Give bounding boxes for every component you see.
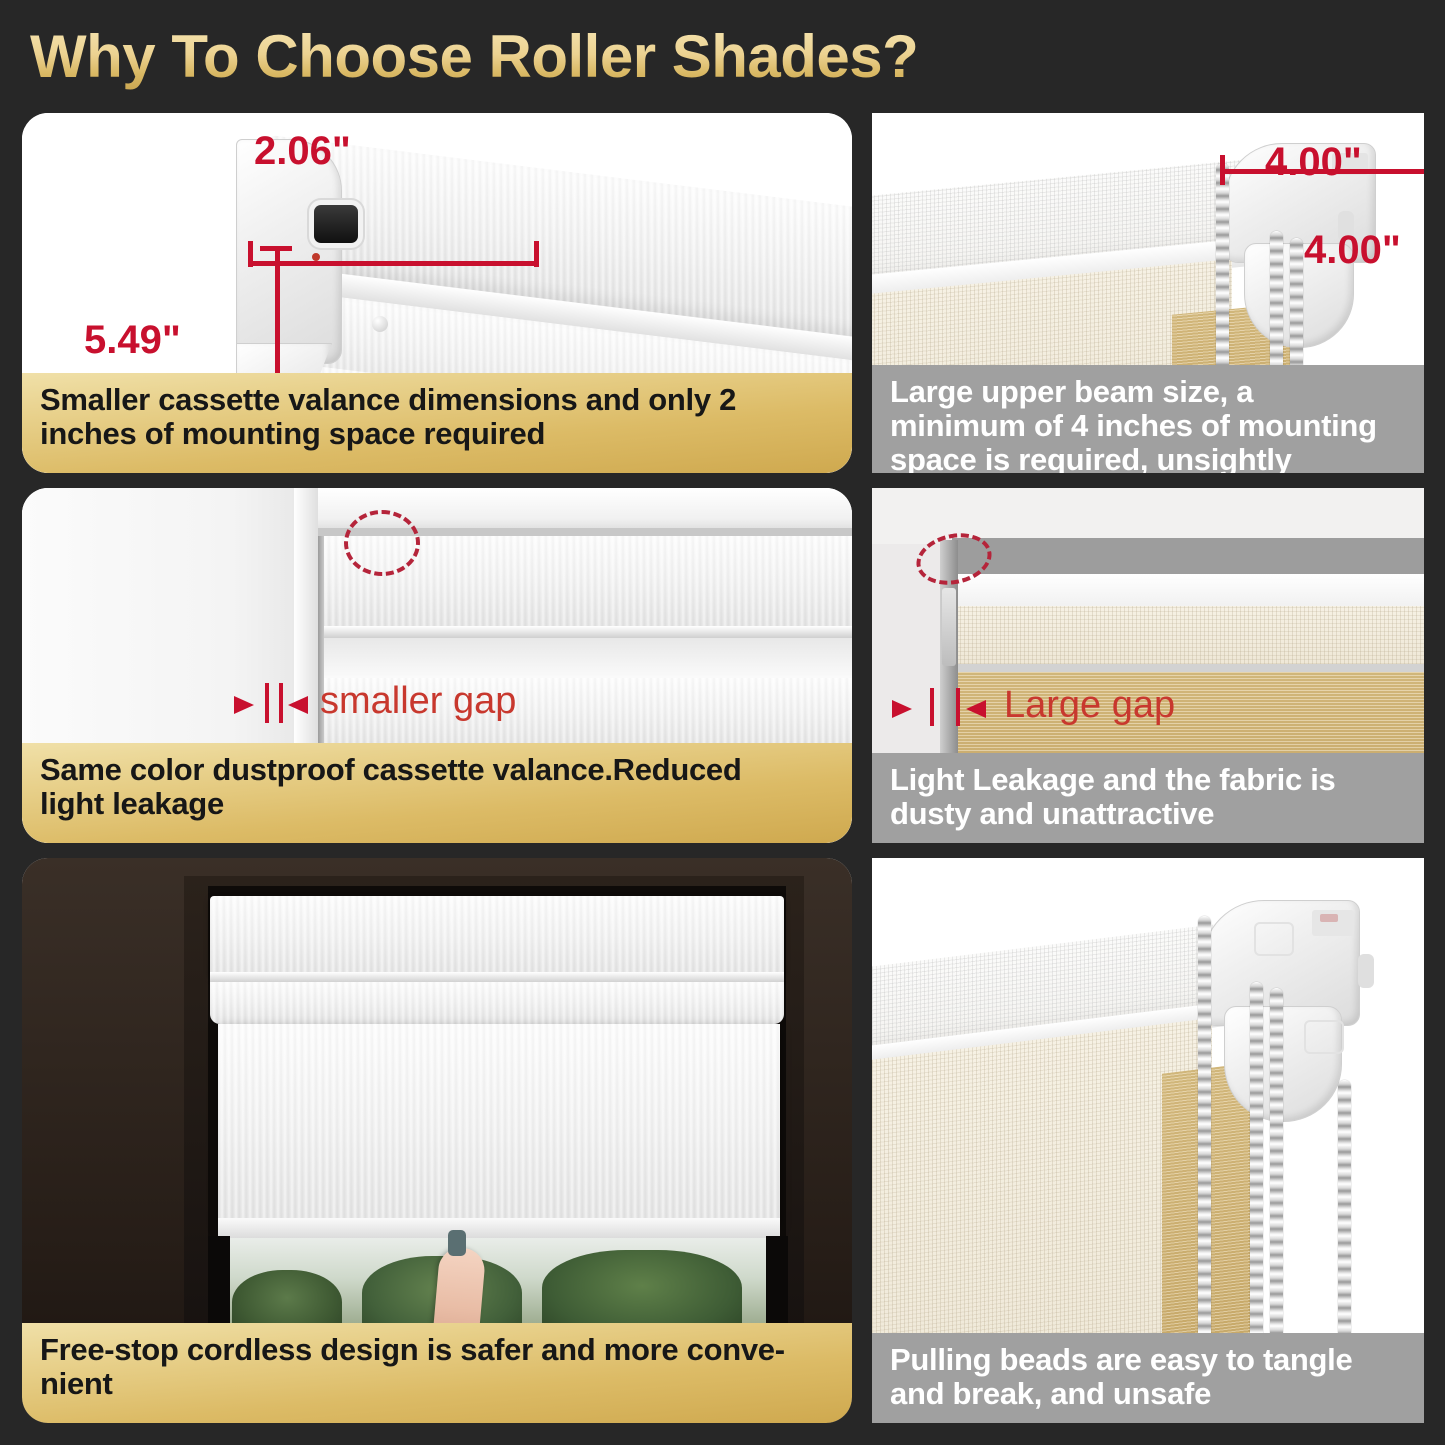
page-title: Why To Choose Roller Shades? <box>30 22 1030 94</box>
caption-top-left: Smaller cassette valance dimensions and … <box>22 373 852 473</box>
caption-line: Pulling beads are easy to tangle <box>890 1343 1408 1377</box>
gap-marker-line <box>930 688 934 726</box>
caption-top-right: Large upper beam size, a minimum of 4 in… <box>872 365 1424 473</box>
gap-marker-line <box>956 688 960 726</box>
gap-highlight-circle <box>344 510 420 576</box>
panel-middle-left: smaller gap Same color dustproof cassett… <box>22 488 852 843</box>
caption-line: Same color dustproof cassette valance.Re… <box>40 753 836 787</box>
width-dim-line <box>248 261 538 266</box>
caption-line: Smaller cassette valance dimensions and … <box>40 383 836 417</box>
panel-bottom-right: Pulling beads are easy to tangle and bre… <box>872 858 1424 1423</box>
caption-line: inches of mounting space required <box>40 417 836 451</box>
caption-middle-right: Light Leakage and the fabric is dusty an… <box>872 753 1424 843</box>
caption-line: space is required, unsightly <box>890 443 1408 473</box>
caption-line: Free-stop cordless design is safer and m… <box>40 1333 836 1367</box>
gap-arrow-right <box>966 700 986 718</box>
beam-height-label: 4.00" <box>1304 228 1401 273</box>
gap-arrow-right <box>288 696 308 714</box>
caption-middle-left: Same color dustproof cassette valance.Re… <box>22 743 852 843</box>
panel-top-right: 4.00" 4.00" Large upper beam size, a min… <box>872 113 1424 473</box>
gap-marker-line <box>265 683 269 723</box>
gap-marker-line <box>279 683 283 723</box>
caption-line: and break, and unsafe <box>890 1377 1408 1411</box>
gap-label: Large gap <box>1004 684 1175 727</box>
caption-bottom-left: Free-stop cordless design is safer and m… <box>22 1323 852 1423</box>
infographic-root: Why To Choose Roller Shades? Why To Choo… <box>0 0 1445 1445</box>
caption-line: Light Leakage and the fabric is <box>890 763 1408 797</box>
gap-arrow-left <box>892 700 912 718</box>
caption-line: nient <box>40 1367 836 1401</box>
caption-line: minimum of 4 inches of mounting <box>890 409 1408 443</box>
panel-bottom-left: Free-stop cordless design is safer and m… <box>22 858 852 1423</box>
caption-line: dusty and unattractive <box>890 797 1408 831</box>
height-dimension-label: 5.49" <box>84 318 181 363</box>
caption-line: light leakage <box>40 787 836 821</box>
panel-middle-right: Large gap Light Leakage and the fabric i… <box>872 488 1424 843</box>
width-dimension-label: 2.06" <box>254 129 351 174</box>
gap-arrow-left <box>234 696 254 714</box>
panel-top-left: 2.06" 5.49" Smaller cassette valance dim… <box>22 113 852 473</box>
caption-bottom-right: Pulling beads are easy to tangle and bre… <box>872 1333 1424 1423</box>
beam-width-label: 4.00" <box>1265 140 1362 185</box>
gap-label: smaller gap <box>320 680 516 723</box>
caption-line: Large upper beam size, a <box>890 375 1408 409</box>
